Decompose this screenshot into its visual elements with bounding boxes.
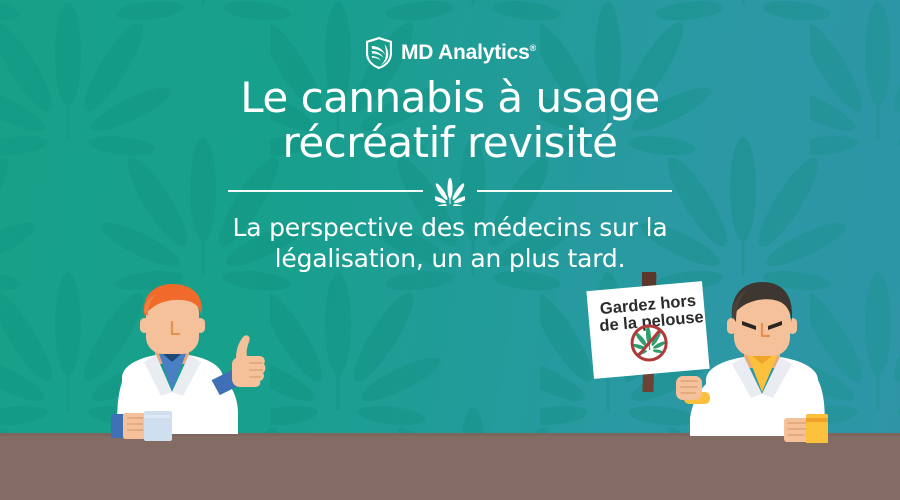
divider-rule-right	[477, 190, 672, 192]
page-title: Le cannabis à usage récréatif revisité	[0, 76, 900, 166]
desk-surface	[0, 433, 900, 500]
brand-logo: MD Analytics®	[0, 36, 900, 70]
shield-swoosh-logo-icon	[364, 36, 394, 70]
cannabis-leaf-icon	[435, 176, 465, 206]
brand-name-text: MD Analytics	[401, 41, 530, 64]
poster-canvas: MD Analytics® Le cannabis à usage récréa…	[0, 0, 900, 500]
title-line-2: récréatif revisité	[0, 121, 900, 166]
registered-mark: ®	[530, 43, 536, 53]
yellow-cup	[784, 414, 828, 443]
coffee-mug	[111, 411, 172, 441]
brand-name: MD Analytics®	[401, 41, 536, 65]
doctor-protester-illustration	[672, 268, 887, 443]
subtitle-line-1: La perspective des médecins sur la	[0, 212, 900, 243]
divider	[0, 176, 900, 206]
title-line-1: Le cannabis à usage	[0, 76, 900, 121]
thumbs-up-icon	[232, 335, 265, 387]
divider-rule-left	[228, 190, 423, 192]
page-subtitle: La perspective des médecins sur la légal…	[0, 212, 900, 275]
doctor-thumbs-up-illustration	[60, 282, 290, 442]
